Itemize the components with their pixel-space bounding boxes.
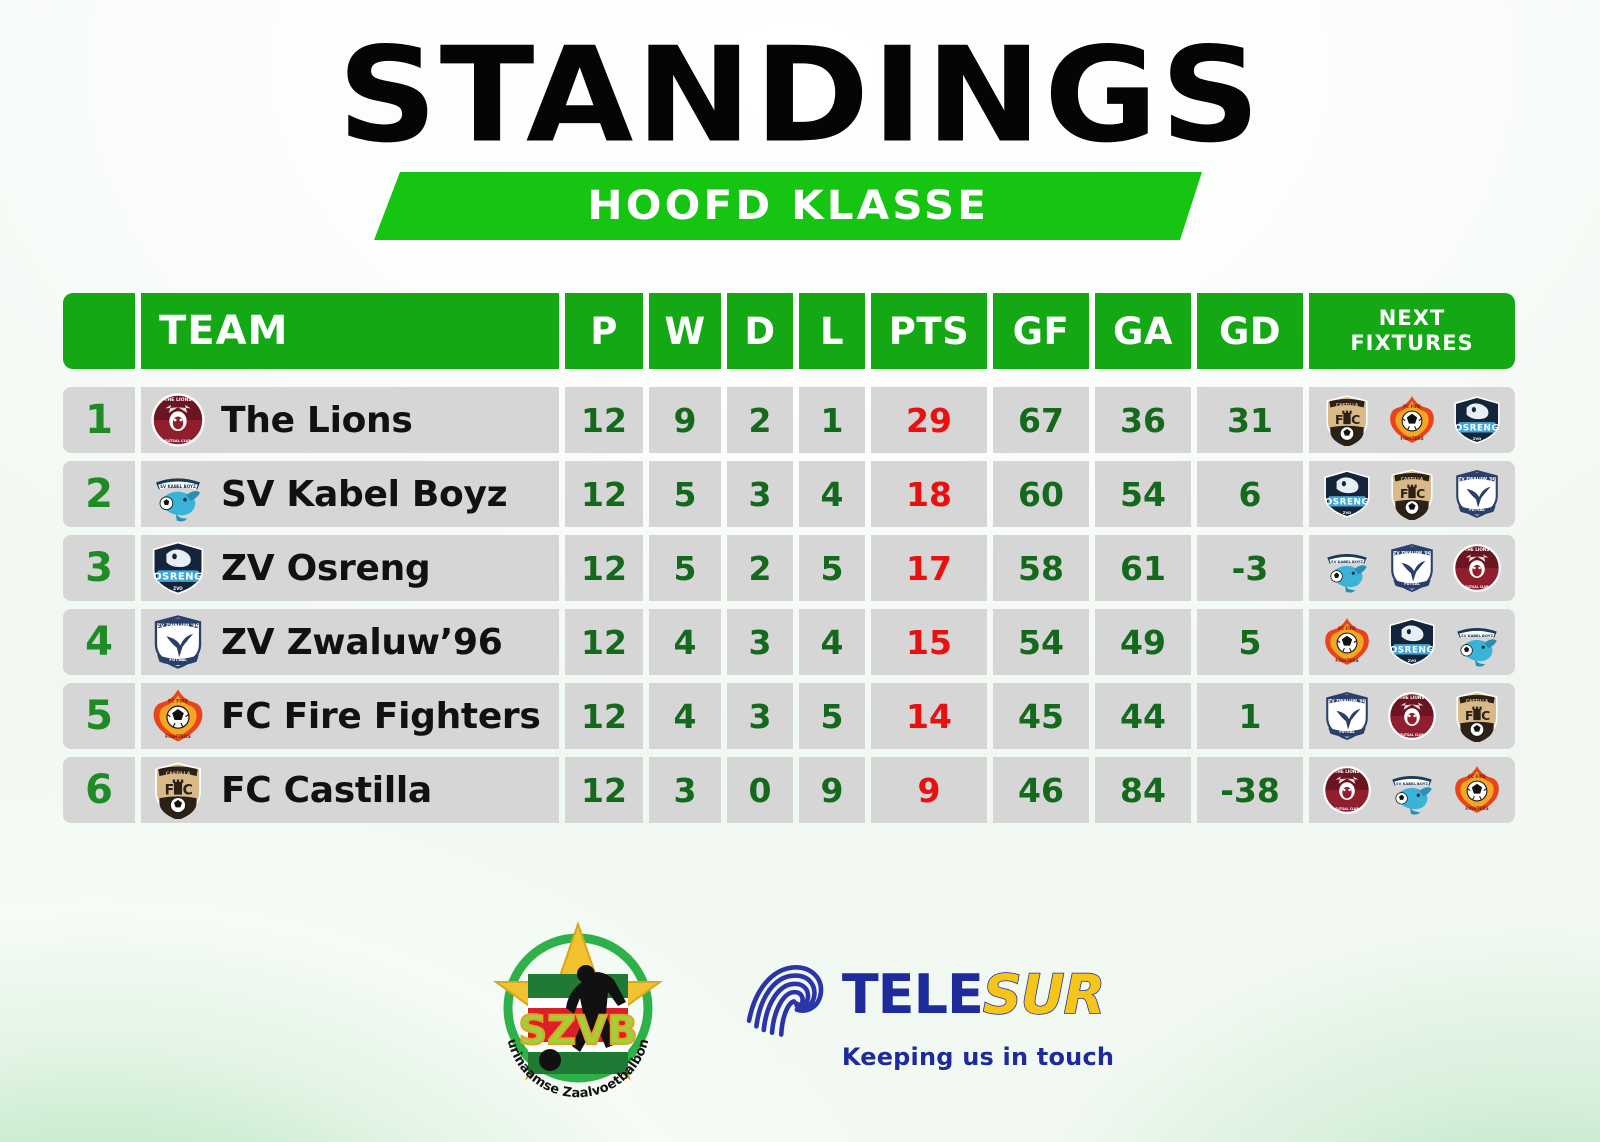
row-points: 15: [871, 609, 987, 675]
svg-text:FIGHTERS: FIGHTERS: [1336, 658, 1359, 663]
row-goals-for: 54: [993, 609, 1089, 675]
row-drawn: 3: [727, 683, 793, 749]
table-row[interactable]: 2 SV KABEL BOYZ SV Kabel Boyz 12 5 3 4: [63, 461, 1515, 527]
row-team-name: FC Fire Fighters: [221, 696, 541, 737]
header-points-label: PTS: [889, 310, 970, 353]
svg-text:ZV ZWALUW '96: ZV ZWALUW '96: [1393, 550, 1430, 555]
szvb-logo-graphic: SZVB Surinaamse Zaalvoetbalbond: [486, 912, 670, 1108]
row-won: 5: [649, 535, 721, 601]
fixture-crest-castilla-icon[interactable]: CASTILLA F C: [1451, 690, 1503, 742]
row-drawn-value: 0: [749, 771, 772, 810]
row-goals-against: 44: [1095, 683, 1191, 749]
row-goals-for-value: 67: [1018, 401, 1064, 440]
row-goals-against: 36: [1095, 387, 1191, 453]
svg-text:THE LIONS: THE LIONS: [164, 397, 192, 403]
row-rank-value: 3: [85, 545, 113, 591]
row-team[interactable]: CASTILLA F C FC Castilla: [141, 757, 559, 823]
svg-text:F: F: [1335, 412, 1344, 427]
row-goal-difference-value: 6: [1239, 475, 1262, 514]
svg-text:ZVO: ZVO: [1472, 437, 1480, 441]
row-won-value: 4: [674, 623, 697, 662]
row-points-value: 9: [918, 771, 941, 810]
svg-text:FUTSAL: FUTSAL: [1404, 582, 1420, 586]
row-rank-value: 6: [85, 767, 113, 813]
row-lost: 1: [799, 387, 865, 453]
row-drawn-value: 3: [749, 623, 772, 662]
svg-text:FIGHTERS: FIGHTERS: [165, 734, 191, 740]
row-goals-for: 67: [993, 387, 1089, 453]
header-team: TEAM: [141, 293, 559, 369]
row-points-value: 14: [906, 697, 952, 736]
svg-text:FC FIRE: FC FIRE: [1468, 774, 1486, 779]
row-rank: 4: [63, 609, 135, 675]
fingerprint-icon: [738, 949, 830, 1041]
fixture-crest-firefighters-icon[interactable]: FC FIRE FIGHTERS: [1451, 764, 1503, 816]
header-goals-against-label: GA: [1113, 310, 1173, 353]
team-crest-castilla-icon: CASTILLA F C: [149, 761, 207, 819]
row-points-value: 29: [906, 401, 952, 440]
team-crest-firefighters-icon: FC FIRE FIGHTERS: [149, 687, 207, 745]
row-lost: 9: [799, 757, 865, 823]
header-won-label: W: [664, 310, 705, 353]
table-row[interactable]: 6 CASTILLA F C FC Castilla 12 3 0: [63, 757, 1515, 823]
row-points: 9: [871, 757, 987, 823]
subtitle-banner: HOOFD KLASSE: [374, 172, 1202, 240]
subtitle-text: HOOFD KLASSE: [587, 183, 989, 229]
svg-text:C: C: [1351, 412, 1360, 427]
svg-text:ZV ZWALUW '96: ZV ZWALUW '96: [1458, 476, 1495, 481]
row-goal-difference: -3: [1197, 535, 1303, 601]
row-goals-against-value: 44: [1120, 697, 1166, 736]
row-team-name: ZV Zwaluw’96: [221, 622, 503, 663]
row-goal-difference: 31: [1197, 387, 1303, 453]
header-next-fixtures-label: NEXTFIXTURES: [1350, 306, 1473, 356]
row-goals-against-value: 36: [1120, 401, 1166, 440]
svg-text:FUTSAL CLUB: FUTSAL CLUB: [1465, 585, 1489, 589]
footer-logos: SZVB Surinaamse Zaalvoetbalbond TELESUR: [0, 905, 1600, 1115]
svg-text:F: F: [1400, 486, 1409, 501]
fixture-crest-osreng-icon[interactable]: OSRENG ZVO: [1451, 394, 1503, 446]
row-points-value: 17: [906, 549, 952, 588]
fixture-crest-castilla-icon[interactable]: CASTILLA F C: [1321, 394, 1373, 446]
row-team-name: The Lions: [221, 400, 413, 441]
row-points-value: 15: [906, 623, 952, 662]
row-drawn: 3: [727, 609, 793, 675]
table-row[interactable]: 4 ZV ZWALUW '96 FUTSAL ZV Zwaluw’96 12 4…: [63, 609, 1515, 675]
fixture-crest-castilla-icon[interactable]: CASTILLA F C: [1386, 468, 1438, 520]
row-next-fixtures[interactable]: OSRENG ZVO CASTILLA F C ZV ZWALUW '96 FU…: [1309, 461, 1515, 527]
row-rank: 6: [63, 757, 135, 823]
header-points: PTS: [871, 293, 987, 369]
team-crest-zwaluw-icon: ZV ZWALUW '96 FUTSAL: [149, 613, 207, 671]
svg-text:OSRENG: OSRENG: [1454, 423, 1498, 433]
svg-text:FUTSAL: FUTSAL: [1469, 508, 1485, 512]
telesur-word-b: SUR: [983, 963, 1104, 1026]
header-rank: [63, 293, 135, 369]
header-team-label: TEAM: [159, 308, 288, 354]
header-goals-for-label: GF: [1013, 310, 1070, 353]
svg-text:SV KABEL BOYZ: SV KABEL BOYZ: [1396, 782, 1428, 786]
row-team[interactable]: FC FIRE FIGHTERS FC Fire Fighters: [141, 683, 559, 749]
row-team[interactable]: THE LIONS FUTSAL CLUB The Lions: [141, 387, 559, 453]
row-goals-for: 60: [993, 461, 1089, 527]
row-won: 5: [649, 461, 721, 527]
row-won: 9: [649, 387, 721, 453]
row-next-fixtures[interactable]: CASTILLA F C FC FIRE FIGHTERS OSRENG ZVO: [1309, 387, 1515, 453]
row-played-value: 12: [581, 623, 627, 662]
row-rank: 5: [63, 683, 135, 749]
row-team[interactable]: ZV ZWALUW '96 FUTSAL ZV Zwaluw’96: [141, 609, 559, 675]
svg-text:ZVO: ZVO: [173, 586, 183, 591]
row-goal-difference: 6: [1197, 461, 1303, 527]
svg-text:FUTSAL: FUTSAL: [169, 657, 187, 662]
svg-text:SV KABEL BOYZ: SV KABEL BOYZ: [1331, 560, 1363, 564]
team-crest-lions-icon: THE LIONS FUTSAL CLUB: [149, 391, 207, 449]
row-points-value: 18: [906, 475, 952, 514]
table-row[interactable]: 5 FC FIRE FIGHTERS FC Fire Fighters 12 4…: [63, 683, 1515, 749]
row-played-value: 12: [581, 697, 627, 736]
fixture-crest-lions-icon[interactable]: THE LIONS FUTSAL CLUB: [1451, 542, 1503, 594]
row-next-fixtures[interactable]: ZV ZWALUW '96 FUTSAL THE LIONS FUTSAL CL…: [1309, 683, 1515, 749]
fixture-crest-zwaluw-icon[interactable]: ZV ZWALUW '96 FUTSAL: [1321, 690, 1373, 742]
row-won-value: 5: [674, 475, 697, 514]
svg-text:OSRENG: OSRENG: [153, 572, 203, 583]
row-played: 12: [565, 683, 643, 749]
header-played-label: P: [590, 310, 618, 353]
svg-text:THE LIONS: THE LIONS: [1400, 695, 1425, 700]
row-goals-against-value: 84: [1120, 771, 1166, 810]
row-next-fixtures[interactable]: FC FIRE FIGHTERS OSRENG ZVO SV KABEL BOY…: [1309, 609, 1515, 675]
row-drawn: 2: [727, 387, 793, 453]
fixture-crest-kabelboyz-icon[interactable]: SV KABEL BOYZ: [1386, 764, 1438, 816]
row-played: 12: [565, 461, 643, 527]
row-rank-value: 1: [85, 397, 113, 443]
row-drawn-value: 3: [749, 697, 772, 736]
row-won-value: 4: [674, 697, 697, 736]
row-goals-for-value: 46: [1018, 771, 1064, 810]
row-lost: 5: [799, 683, 865, 749]
svg-text:THE LIONS: THE LIONS: [1464, 547, 1489, 552]
svg-text:FUTSAL CLUB: FUTSAL CLUB: [165, 439, 192, 443]
row-won-value: 9: [674, 401, 697, 440]
row-points: 18: [871, 461, 987, 527]
row-next-fixtures[interactable]: SV KABEL BOYZ ZV ZWALUW '96 FUTSAL THE L…: [1309, 535, 1515, 601]
svg-text:FC FIRE: FC FIRE: [1403, 404, 1421, 409]
svg-text:CASTILLA: CASTILLA: [1336, 402, 1359, 407]
header-drawn-label: D: [744, 310, 775, 353]
row-goals-for: 46: [993, 757, 1089, 823]
svg-text:THE LIONS: THE LIONS: [1335, 769, 1360, 774]
row-won: 3: [649, 757, 721, 823]
svg-text:FIGHTERS: FIGHTERS: [1465, 806, 1488, 811]
szvb-acronym: SZVB: [518, 1008, 637, 1054]
fixture-crest-osreng-icon[interactable]: OSRENG ZVO: [1386, 616, 1438, 668]
row-team[interactable]: SV KABEL BOYZ SV Kabel Boyz: [141, 461, 559, 527]
row-team-name: ZV Osreng: [221, 548, 430, 589]
row-goals-for-value: 58: [1018, 549, 1064, 588]
svg-text:OSRENG: OSRENG: [1325, 497, 1369, 507]
svg-text:C: C: [183, 783, 193, 799]
fixture-crest-zwaluw-icon[interactable]: ZV ZWALUW '96 FUTSAL: [1451, 468, 1503, 520]
row-team-name: SV Kabel Boyz: [221, 474, 507, 515]
row-lost-value: 4: [821, 623, 844, 662]
standings-table: TEAM P W D L PTS GF GA GD NEXTFIXTURES: [63, 293, 1515, 831]
row-goals-against: 61: [1095, 535, 1191, 601]
row-lost: 5: [799, 535, 865, 601]
row-goals-for: 58: [993, 535, 1089, 601]
row-rank: 2: [63, 461, 135, 527]
team-crest-osreng-icon: OSRENG ZVO: [149, 539, 207, 597]
svg-text:FC FIRE: FC FIRE: [1338, 626, 1356, 631]
page-header: STANDINGS: [0, 34, 1600, 158]
table-header-row: TEAM P W D L PTS GF GA GD NEXTFIXTURES: [63, 293, 1515, 369]
svg-text:CASTILLA: CASTILLA: [1401, 476, 1424, 481]
row-won-value: 5: [674, 549, 697, 588]
row-rank-value: 2: [85, 471, 113, 517]
svg-text:ZVO: ZVO: [1343, 511, 1351, 515]
fixture-crest-firefighters-icon[interactable]: FC FIRE FIGHTERS: [1321, 616, 1373, 668]
row-goals-for-value: 54: [1018, 623, 1064, 662]
row-goals-against-value: 54: [1120, 475, 1166, 514]
row-goal-difference-value: 5: [1239, 623, 1262, 662]
team-crest-kabelboyz-icon: SV KABEL BOYZ: [149, 465, 207, 523]
svg-text:ZVO: ZVO: [1408, 659, 1416, 663]
header-lost: L: [799, 293, 865, 369]
svg-text:C: C: [1416, 486, 1425, 501]
row-goal-difference: 1: [1197, 683, 1303, 749]
svg-text:CASTILLA: CASTILLA: [1466, 698, 1489, 703]
row-goals-for: 45: [993, 683, 1089, 749]
row-goal-difference: -38: [1197, 757, 1303, 823]
fixture-crest-lions-icon[interactable]: THE LIONS FUTSAL CLUB: [1386, 690, 1438, 742]
row-won: 4: [649, 683, 721, 749]
svg-text:SV KABEL BOYZ: SV KABEL BOYZ: [1461, 634, 1493, 638]
row-played: 12: [565, 387, 643, 453]
table-row[interactable]: 1 THE LIONS FUTSAL CLUB The Lions 12 9 2: [63, 387, 1515, 453]
header-next-fixtures: NEXTFIXTURES: [1309, 293, 1515, 369]
row-goal-difference-value: -3: [1232, 549, 1269, 588]
fixture-crest-zwaluw-icon[interactable]: ZV ZWALUW '96 FUTSAL: [1386, 542, 1438, 594]
row-played: 12: [565, 757, 643, 823]
row-lost-value: 5: [821, 697, 844, 736]
telesur-tagline: Keeping us in touch: [842, 1043, 1114, 1071]
telesur-word-a: TELE: [842, 963, 983, 1026]
svg-text:OSRENG: OSRENG: [1390, 645, 1434, 655]
row-lost-value: 4: [821, 475, 844, 514]
row-goals-against: 54: [1095, 461, 1191, 527]
svg-text:ZV ZWALUW '96: ZV ZWALUW '96: [1329, 698, 1366, 703]
row-points: 29: [871, 387, 987, 453]
svg-text:FUTSAL CLUB: FUTSAL CLUB: [1400, 733, 1424, 737]
row-played-value: 12: [581, 771, 627, 810]
row-goals-against-value: 61: [1120, 549, 1166, 588]
svg-text:SV KABEL BOYZ: SV KABEL BOYZ: [160, 484, 196, 489]
row-points: 17: [871, 535, 987, 601]
row-rank-value: 4: [85, 619, 113, 665]
table-body: 1 THE LIONS FUTSAL CLUB The Lions 12 9 2: [63, 387, 1515, 823]
row-drawn: 2: [727, 535, 793, 601]
row-drawn-value: 3: [749, 475, 772, 514]
header-goals-for: GF: [993, 293, 1089, 369]
fixture-crest-osreng-icon[interactable]: OSRENG ZVO: [1321, 468, 1373, 520]
row-team-name: FC Castilla: [221, 770, 432, 811]
fixture-crest-firefighters-icon[interactable]: FC FIRE FIGHTERS: [1386, 394, 1438, 446]
row-played: 12: [565, 535, 643, 601]
row-points: 14: [871, 683, 987, 749]
row-lost-value: 9: [821, 771, 844, 810]
row-goals-for-value: 45: [1018, 697, 1064, 736]
row-goals-against: 49: [1095, 609, 1191, 675]
szvb-logo: SZVB Surinaamse Zaalvoetbalbond: [486, 912, 670, 1108]
fixture-crest-kabelboyz-icon[interactable]: SV KABEL BOYZ: [1451, 616, 1503, 668]
row-played-value: 12: [581, 401, 627, 440]
row-drawn-value: 2: [749, 401, 772, 440]
svg-text:F: F: [1465, 708, 1474, 723]
header-played: P: [565, 293, 643, 369]
row-drawn-value: 2: [749, 549, 772, 588]
header-won: W: [649, 293, 721, 369]
row-goal-difference-value: 31: [1227, 401, 1273, 440]
row-goal-difference: 5: [1197, 609, 1303, 675]
svg-text:ZV ZWALUW '96: ZV ZWALUW '96: [157, 623, 198, 629]
telesur-logo: TELESUR Keeping us in touch: [738, 949, 1114, 1071]
row-drawn: 0: [727, 757, 793, 823]
row-played-value: 12: [581, 475, 627, 514]
row-lost: 4: [799, 461, 865, 527]
svg-text:FIGHTERS: FIGHTERS: [1400, 436, 1423, 441]
row-goal-difference-value: 1: [1239, 697, 1262, 736]
header-goals-against: GA: [1095, 293, 1191, 369]
row-lost: 4: [799, 609, 865, 675]
row-goals-for-value: 60: [1018, 475, 1064, 514]
row-rank: 3: [63, 535, 135, 601]
row-lost-value: 5: [821, 549, 844, 588]
row-lost-value: 1: [821, 401, 844, 440]
row-goal-difference-value: -38: [1220, 771, 1280, 810]
row-team[interactable]: OSRENG ZVO ZV Osreng: [141, 535, 559, 601]
header-goal-difference: GD: [1197, 293, 1303, 369]
table-row[interactable]: 3 OSRENG ZVO ZV Osreng 12 5 2 5 17 58: [63, 535, 1515, 601]
svg-text:CASTILLA: CASTILLA: [166, 771, 191, 777]
fixture-crest-kabelboyz-icon[interactable]: SV KABEL BOYZ: [1321, 542, 1373, 594]
svg-text:FUTSAL CLUB: FUTSAL CLUB: [1336, 807, 1360, 811]
row-won-value: 3: [674, 771, 697, 810]
svg-text:C: C: [1481, 708, 1490, 723]
header-lost-label: L: [820, 310, 844, 353]
row-rank: 1: [63, 387, 135, 453]
page-title: STANDINGS: [337, 30, 1262, 161]
header-goal-difference-label: GD: [1219, 310, 1281, 353]
row-played: 12: [565, 609, 643, 675]
row-next-fixtures[interactable]: THE LIONS FUTSAL CLUB SV KABEL BOYZ FC F…: [1309, 757, 1515, 823]
row-played-value: 12: [581, 549, 627, 588]
svg-text:FC FIRE: FC FIRE: [168, 699, 188, 705]
row-drawn: 3: [727, 461, 793, 527]
fixture-crest-lions-icon[interactable]: THE LIONS FUTSAL CLUB: [1321, 764, 1373, 816]
header-drawn: D: [727, 293, 793, 369]
svg-text:FUTSAL: FUTSAL: [1340, 730, 1356, 734]
row-goals-against: 84: [1095, 757, 1191, 823]
row-rank-value: 5: [85, 693, 113, 739]
svg-text:F: F: [165, 783, 175, 799]
row-goals-against-value: 49: [1120, 623, 1166, 662]
row-won: 4: [649, 609, 721, 675]
